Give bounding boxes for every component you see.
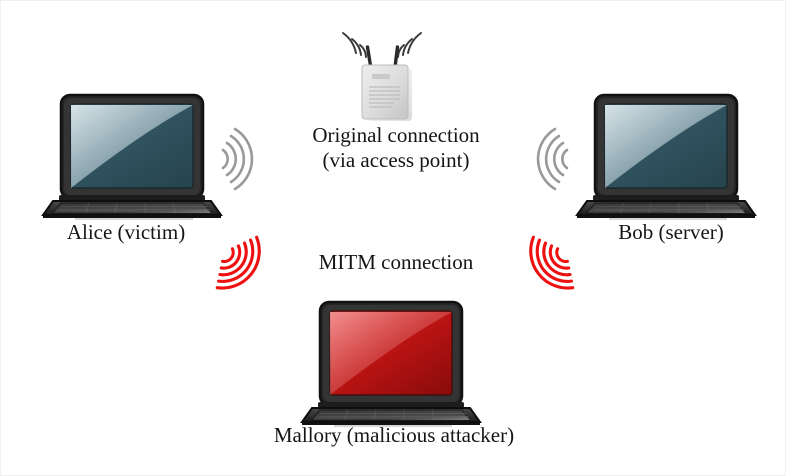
label-bob: Bob (server)	[546, 220, 786, 245]
connection-label-mitm: MITM connection	[266, 250, 526, 275]
node-alice	[45, 93, 225, 218]
connection-label-original: Original connection (via access point)	[266, 123, 526, 173]
access-point-icon	[334, 19, 438, 123]
node-mallory	[304, 300, 484, 425]
diagram-canvas: Alice (victim)	[0, 0, 786, 476]
wifi-waves-gray-mirrored-icon	[515, 123, 577, 195]
connection-label-original-line2: (via access point)	[266, 148, 526, 173]
connection-label-original-line1: Original connection	[266, 123, 526, 148]
laptop-mallory-icon	[304, 300, 484, 425]
laptop-bob-icon	[579, 93, 759, 218]
label-mallory: Mallory (malicious attacker)	[219, 423, 569, 448]
signal-bob-gray	[515, 123, 577, 195]
laptop-alice-icon	[45, 93, 225, 218]
node-bob	[579, 93, 759, 218]
signal-mitm-right-red	[513, 233, 579, 303]
node-access-point	[334, 19, 438, 123]
